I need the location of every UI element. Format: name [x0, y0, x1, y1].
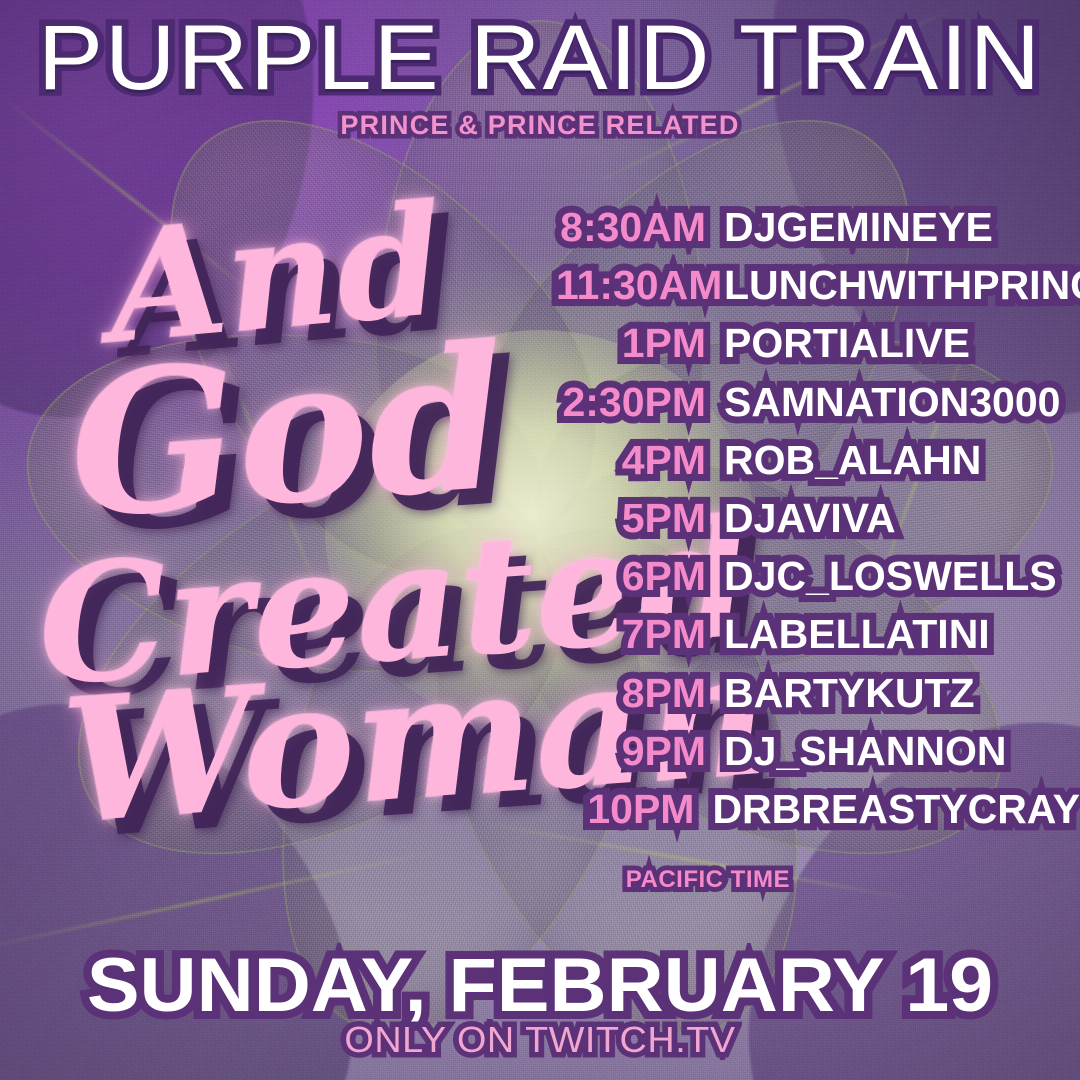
schedule-streamer: SAMNATION3000	[724, 379, 1060, 426]
schedule-list: 8:30AM DJGEMINEYE 11:30AM LUNCHWITHPRINC…	[556, 204, 1080, 844]
schedule-time: 8PM	[556, 670, 706, 717]
schedule-time: 6PM	[556, 553, 706, 600]
schedule-streamer: DJAVIVA	[724, 495, 896, 542]
schedule-time: 8:30AM	[556, 204, 706, 251]
schedule-row: 8:30AM DJGEMINEYE	[556, 204, 1080, 262]
schedule-row: 8PM BARTYKUTZ	[556, 670, 1080, 728]
schedule-time: 11:30AM	[556, 262, 706, 309]
schedule-row: 7PM LABELLATINI	[556, 611, 1080, 669]
schedule-time: 10PM	[556, 786, 694, 833]
schedule-streamer: DJC_LOSWELLS	[724, 553, 1057, 600]
schedule-time: 5PM	[556, 495, 706, 542]
schedule-time: 2:30PM	[556, 379, 706, 426]
schedule-streamer: DJGEMINEYE	[724, 204, 993, 251]
schedule-time: 4PM	[556, 437, 706, 484]
schedule-time: 1PM	[556, 320, 706, 367]
event-date: SUNDAY, FEBRUARY 19	[0, 948, 1080, 1024]
schedule-row: 4PM ROB_ALAHN	[556, 437, 1080, 495]
platform-note: ONLY ON TWITCH.TV	[0, 1022, 1080, 1058]
page-subtitle: PRINCE & PRINCE RELATED	[0, 112, 1080, 139]
schedule-row: 6PM DJC_LOSWELLS	[556, 553, 1080, 611]
schedule-row: 9PM DJ_SHANNON	[556, 728, 1080, 786]
schedule-streamer: PORTIALIVE	[724, 320, 970, 367]
schedule-streamer: LUNCHWITHPRINCE	[724, 262, 1080, 309]
timezone-note: PACIFIC TIME	[556, 866, 790, 894]
schedule-streamer: DJ_SHANNON	[724, 728, 1007, 775]
schedule-streamer: LABELLATINI	[724, 611, 990, 658]
schedule-row: 11:30AM LUNCHWITHPRINCE	[556, 262, 1080, 320]
schedule-time: 7PM	[556, 611, 706, 658]
page-title: PURPLE RAID TRAIN	[0, 12, 1080, 104]
schedule-time: 9PM	[556, 728, 706, 775]
schedule-streamer: DRBREASTYCRAY	[712, 786, 1080, 833]
schedule-row: 10PM DRBREASTYCRAY	[556, 786, 1080, 844]
raid-train-flyer: PURPLE RAID TRAIN PRINCE & PRINCE RELATE…	[0, 0, 1080, 1080]
schedule-row: 2:30PM SAMNATION3000	[556, 379, 1080, 437]
schedule-streamer: ROB_ALAHN	[724, 437, 981, 484]
schedule-row: 1PM PORTIALIVE	[556, 320, 1080, 378]
script-logo: And God Created Woman	[34, 178, 594, 828]
schedule-streamer: BARTYKUTZ	[724, 670, 975, 717]
schedule-row: 5PM DJAVIVA	[556, 495, 1080, 553]
